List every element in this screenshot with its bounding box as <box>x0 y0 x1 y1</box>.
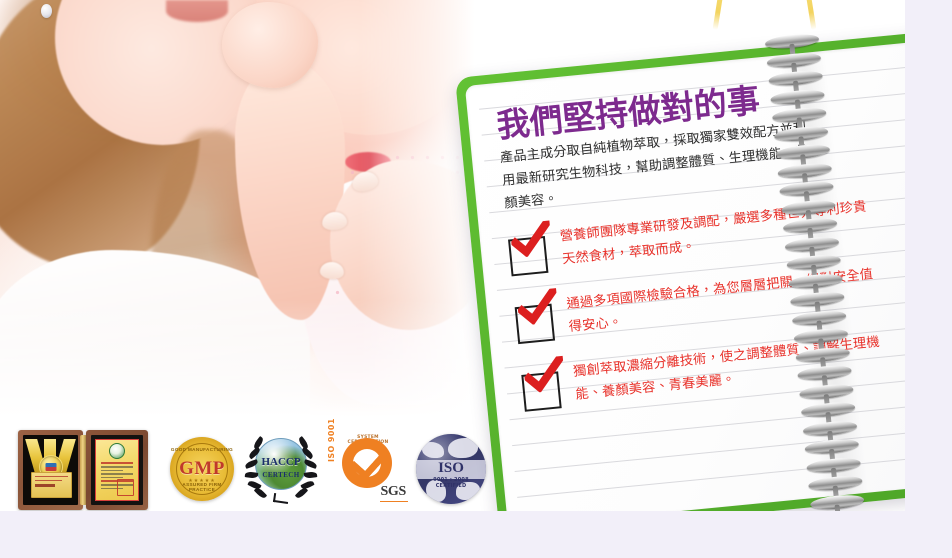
gmp-arc-top: GOOD MANUFACTURING <box>170 447 234 452</box>
page-root: GOOD MANUFACTURING GMP ★★★★★ ASSURED FIR… <box>0 0 952 558</box>
spiral-ring <box>808 474 863 492</box>
spiral-ring <box>777 161 832 179</box>
list-item: 通過多項國際檢驗合格，為您層層把關，絕對安全值得安心。 <box>514 270 818 351</box>
checkbox[interactable] <box>515 304 555 344</box>
spiral-ring <box>784 235 839 253</box>
checkbox[interactable] <box>508 236 548 276</box>
check-icon <box>273 493 289 504</box>
certificate-frame <box>86 430 148 510</box>
spiral-ring <box>768 69 823 87</box>
checkbox[interactable] <box>521 372 561 412</box>
spiral-ring <box>797 364 852 382</box>
spiral-ring <box>806 456 861 474</box>
spiral-ring <box>792 309 847 327</box>
mother-and-baby-photo <box>0 0 490 430</box>
spiral-ring <box>810 493 865 511</box>
shopping-bag-handle-icon <box>700 0 832 32</box>
photo-fade-bottom <box>0 300 490 430</box>
gmp-badge: GOOD MANUFACTURING GMP ★★★★★ ASSURED FIR… <box>170 437 234 501</box>
haccp-badge: HACCP CERTECH <box>244 434 318 504</box>
iso-standard: 9001 : 2008 <box>433 477 469 483</box>
notebook-page: 我們堅持做對的事 產品主成分取自純植物萃取，採取獨家雙效配方並利用最新研究生物科… <box>465 37 952 528</box>
mother-lips <box>166 0 228 22</box>
certificate-stamp-icon <box>117 479 134 496</box>
spiral-ring <box>775 143 830 161</box>
spiral-ring <box>802 419 857 437</box>
list-item: 獨創萃取濃縮分離技術，使之調整體質、調解生理機能、養顏美容、青春美麗。 <box>521 338 825 419</box>
iso-badge: ISO 9001 : 2008 CERTIFIED <box>416 434 486 504</box>
spiral-ring <box>795 345 850 363</box>
iso-globe-icon: ISO 9001 : 2008 CERTIFIED <box>416 434 486 504</box>
spiral-ring <box>770 88 825 106</box>
sgs-seal-icon: SYSTEM CERTIFICATION ISO 9001 SGS <box>330 436 408 502</box>
iso-sublabel: 9001 : 2008 CERTIFIED <box>416 477 486 490</box>
certification-badges: GOOD MANUFACTURING GMP ★★★★★ ASSURED FIR… <box>18 424 478 514</box>
haccp-label: HACCP <box>244 456 318 468</box>
handle-right-strap <box>805 0 817 30</box>
award-plaque-badge <box>18 430 83 510</box>
iso-certified: CERTIFIED <box>436 483 467 489</box>
fingernail <box>319 261 344 280</box>
baby-fist <box>222 2 318 88</box>
sgs-iso-text: ISO 9001 <box>327 418 336 462</box>
certificate-seal-icon <box>109 443 125 459</box>
plaque-label <box>31 472 72 498</box>
iso-label: ISO <box>416 461 486 476</box>
gmp-seal-icon: GOOD MANUFACTURING GMP ★★★★★ ASSURED FIR… <box>170 437 234 501</box>
haccp-seal-icon: HACCP CERTECH <box>244 434 318 504</box>
continent-shape <box>422 442 444 458</box>
certificate-mat <box>91 435 143 505</box>
spiral-ring <box>793 327 848 345</box>
haccp-sublabel: CERTECH <box>244 471 318 479</box>
plaque-frame <box>18 430 83 510</box>
earring <box>41 4 52 18</box>
spiral-ring <box>783 216 838 234</box>
bottom-margin <box>0 511 952 558</box>
spiral-ring <box>781 198 836 216</box>
spiral-ring <box>786 253 841 271</box>
spiral-ring <box>801 401 856 419</box>
checklist: 營養師團隊專業研發及調配，嚴選多種世界專利珍貴天然食材，萃取而成。 通過多項國際… <box>507 203 824 419</box>
spiral-ring <box>790 290 845 308</box>
spiral-ring <box>788 272 843 290</box>
right-margin <box>905 0 952 511</box>
spiral-ring <box>772 106 827 124</box>
sgs-label: SGS <box>380 484 406 500</box>
sgs-badge: SYSTEM CERTIFICATION ISO 9001 SGS <box>330 436 408 502</box>
spiral-ring <box>774 124 829 142</box>
gmp-label: GMP <box>179 458 225 480</box>
list-item: 營養師團隊專業研發及調配，嚴選多種世界專利珍貴天然食材，萃取而成。 <box>507 203 811 284</box>
handle-left-strap <box>713 0 725 30</box>
continent-shape <box>448 438 478 458</box>
spiral-ring <box>799 382 854 400</box>
certificate-badge <box>86 430 148 510</box>
certificate-paper <box>95 439 139 501</box>
spiral-ring <box>766 51 821 69</box>
spiral-ring <box>779 180 834 198</box>
plaque-inner <box>23 435 78 505</box>
spiral-ring <box>804 437 859 455</box>
gmp-arc-bottom: ASSURED FIRM PRACTICE <box>170 482 234 492</box>
spiral-notebook: 我們堅持做對的事 產品主成分取自純植物萃取，採取獨家雙效配方並利用最新研究生物科… <box>455 27 952 546</box>
